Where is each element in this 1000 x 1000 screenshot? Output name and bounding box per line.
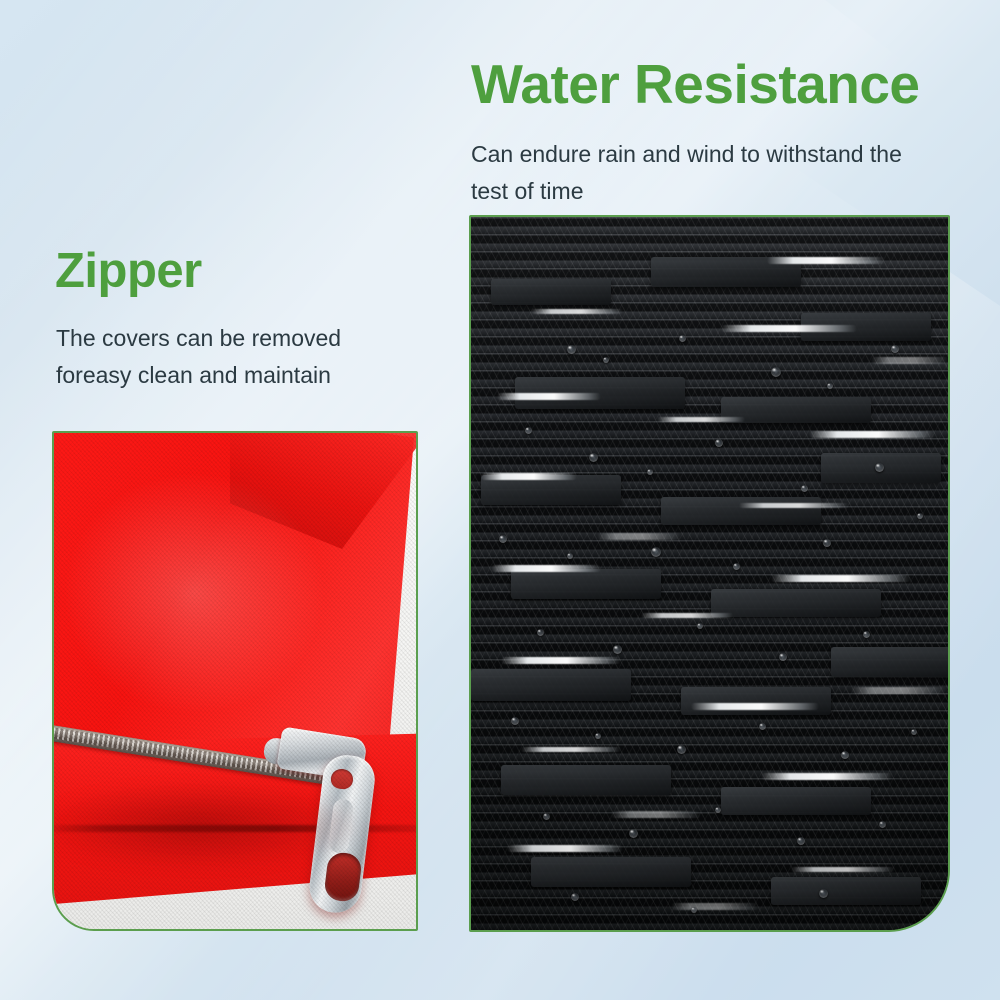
- water-droplet: [647, 469, 653, 475]
- water-droplet: [891, 345, 899, 353]
- mesh-slab: [491, 279, 611, 305]
- water-droplet: [879, 821, 886, 828]
- mesh-highlight-streak: [521, 747, 621, 752]
- mesh-slab: [771, 877, 921, 905]
- mesh-highlight-streak: [597, 533, 681, 540]
- water-resistance-product-image: [469, 215, 950, 932]
- mesh-highlight-streak: [491, 565, 601, 572]
- water-droplet: [771, 367, 781, 377]
- water-droplet: [823, 539, 831, 547]
- mesh-highlight-streak: [739, 503, 849, 508]
- mesh-highlight-streak: [691, 703, 819, 710]
- water-droplet: [511, 717, 519, 725]
- zipper-heading: Zipper: [55, 243, 202, 299]
- water-droplet: [691, 907, 697, 913]
- mesh-slab: [661, 497, 821, 525]
- water-droplet: [697, 623, 703, 629]
- mesh-slab: [831, 647, 950, 677]
- mesh-slab: [711, 589, 881, 617]
- water-droplet: [543, 813, 550, 820]
- mesh-highlight-streak: [501, 657, 621, 664]
- water-droplet: [499, 535, 507, 543]
- mesh-highlight-streak: [611, 811, 701, 818]
- mesh-highlight-streak: [851, 687, 947, 694]
- water-droplet: [567, 553, 573, 559]
- mesh-slab: [501, 765, 671, 795]
- mesh-slab: [721, 787, 871, 815]
- zipper-product-image: [52, 431, 418, 931]
- mesh-highlight-streak: [767, 257, 885, 264]
- zipper-description: The covers can be removed foreasy clean …: [56, 320, 396, 394]
- product-feature-infographic: Water Resistance Can endure rain and win…: [0, 0, 1000, 1000]
- water-droplet: [567, 345, 576, 354]
- water-droplet: [589, 453, 598, 462]
- water-droplet: [571, 893, 579, 901]
- mesh-highlight-streak: [761, 773, 893, 780]
- water-droplet: [537, 629, 544, 636]
- water-droplet: [629, 829, 638, 838]
- mesh-highlight-streak: [791, 867, 895, 872]
- mesh-highlight-streak: [721, 325, 857, 332]
- water-droplet: [651, 547, 661, 557]
- water-resistance-heading: Water Resistance: [471, 52, 920, 116]
- zipper-photo-canvas: [54, 433, 416, 929]
- mesh-highlight-streak: [657, 417, 745, 422]
- water-resistance-description: Can endure rain and wind to withstand th…: [471, 136, 941, 210]
- mesh-highlight-streak: [641, 613, 733, 618]
- mesh-slab: [511, 569, 661, 599]
- mesh-highlight-streak: [497, 393, 601, 400]
- water-droplet: [841, 751, 849, 759]
- water-droplet: [819, 889, 828, 898]
- water-droplet: [875, 463, 884, 472]
- mesh-slab: [681, 687, 831, 715]
- mesh-slab: [531, 857, 691, 887]
- mesh-highlight-streak: [481, 473, 577, 480]
- mesh-highlight-streak: [671, 903, 759, 910]
- water-droplet: [595, 733, 601, 739]
- water-droplet: [677, 745, 686, 754]
- mesh-highlight-streak: [871, 357, 949, 364]
- mesh-highlight-streak: [771, 575, 911, 582]
- water-droplet: [525, 427, 532, 434]
- mesh-highlight-streak: [507, 845, 623, 852]
- water-droplet: [911, 729, 917, 735]
- water-droplet: [715, 807, 721, 813]
- water-droplet: [679, 335, 686, 342]
- water-droplet: [917, 513, 923, 519]
- water-droplet: [733, 563, 740, 570]
- water-droplet: [715, 439, 723, 447]
- water-droplet: [613, 645, 622, 654]
- mesh-slab: [471, 669, 631, 701]
- water-droplet: [603, 357, 609, 363]
- water-droplet: [759, 723, 766, 730]
- water-droplet: [779, 653, 787, 661]
- mesh-highlight-streak: [809, 431, 935, 438]
- water-droplet: [797, 837, 805, 845]
- water-droplet: [863, 631, 870, 638]
- water-droplet: [827, 383, 833, 389]
- water-droplet: [801, 485, 808, 492]
- mesh-highlight-streak: [531, 309, 623, 314]
